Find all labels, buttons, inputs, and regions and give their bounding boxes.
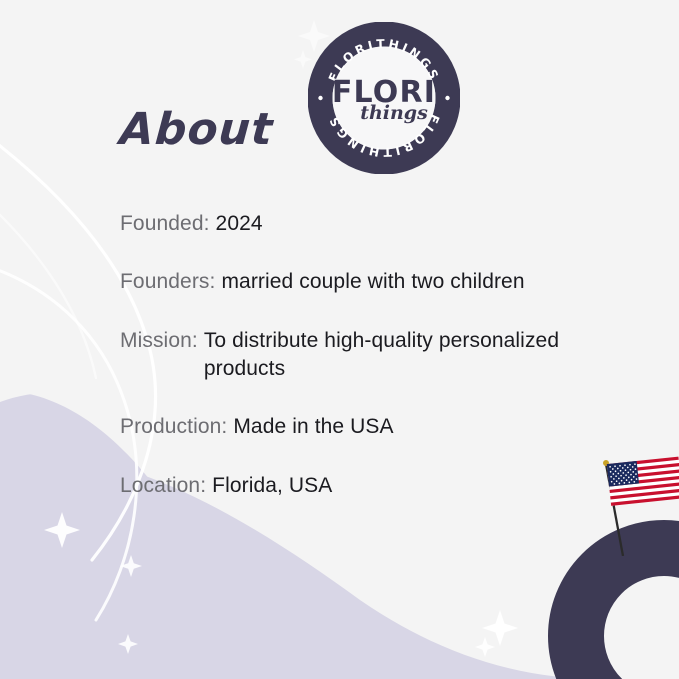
page-title: About	[118, 108, 274, 152]
info-row-location: Location: Florida, USA	[120, 472, 640, 500]
info-row-founders: Founders: married couple with two childr…	[120, 268, 640, 296]
white-curved-arc	[0, 196, 96, 378]
sparkle-star	[44, 512, 80, 548]
logo-wordmark-script: things	[360, 102, 428, 124]
logo-ring-dot	[445, 96, 449, 100]
sparkle-star	[482, 610, 518, 646]
info-row-founded: Founded: 2024	[120, 210, 640, 238]
sparkle-star	[120, 555, 142, 577]
info-label: Founders:	[120, 268, 215, 296]
about-card: FLORITHINGS FLORITHINGS FLORI things Abo…	[0, 0, 679, 679]
info-label: Founded:	[120, 210, 210, 238]
info-label: Location:	[120, 472, 206, 500]
info-label: Mission:	[120, 327, 198, 355]
us-flag-icon	[596, 448, 679, 556]
white-curved-arc	[0, 262, 137, 620]
flag-canton	[607, 461, 639, 487]
info-value: To distribute high-quality personalized …	[204, 327, 608, 384]
info-value: 2024	[216, 210, 263, 238]
info-row-mission: Mission: To distribute high-quality pers…	[120, 327, 640, 384]
info-row-production: Production: Made in the USA	[120, 413, 640, 441]
info-value: married couple with two children	[221, 268, 524, 296]
sparkle-star	[475, 637, 495, 657]
sparkle-star	[118, 634, 138, 654]
about-info-list: Founded: 2024 Founders: married couple w…	[120, 210, 640, 500]
info-value: Florida, USA	[212, 472, 332, 500]
info-value: Made in the USA	[233, 413, 393, 441]
logo-ring-dot	[318, 96, 322, 100]
info-label: Production:	[120, 413, 227, 441]
brand-logo-badge: FLORITHINGS FLORITHINGS FLORI things	[308, 22, 460, 174]
